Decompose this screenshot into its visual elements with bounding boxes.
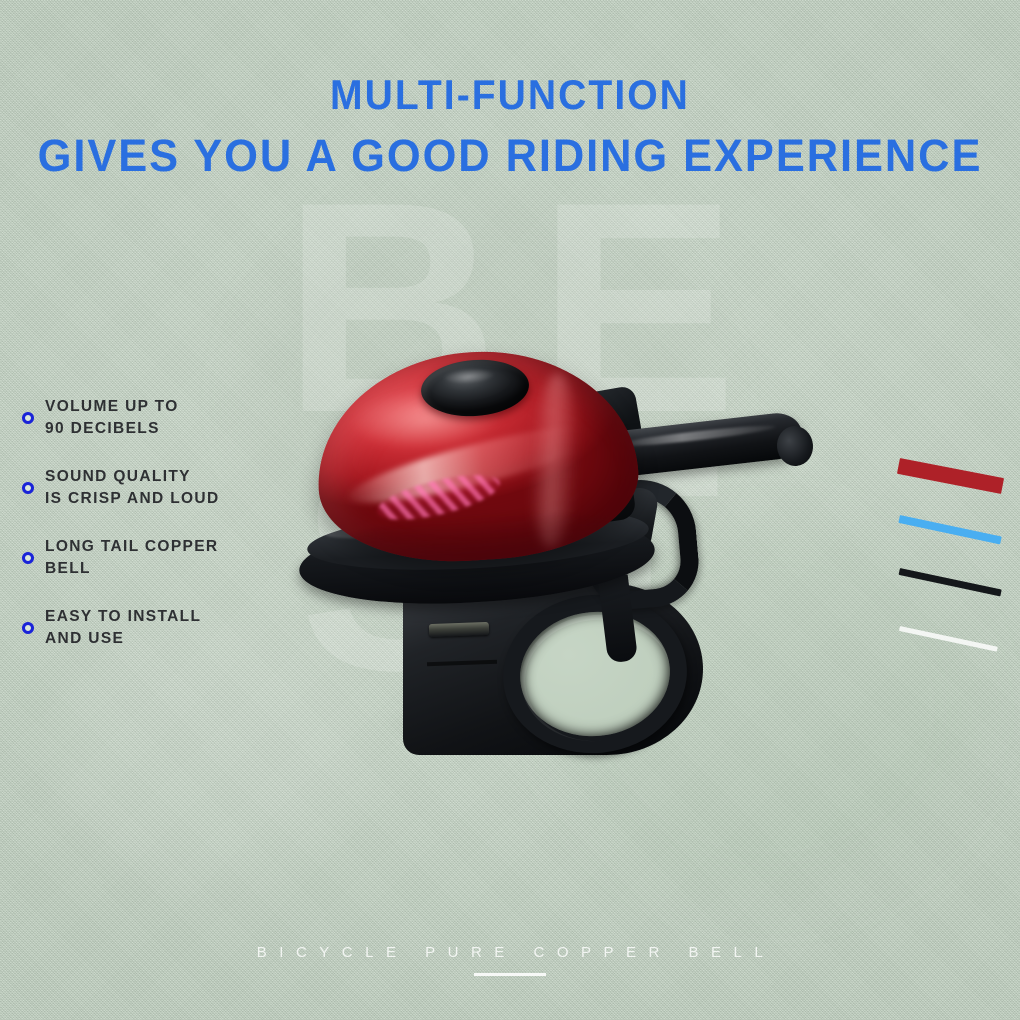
feature-line-2: BELL (45, 558, 218, 580)
headline-line-2: GIVES YOU A GOOD RIDING EXPERIENCE (18, 133, 1002, 178)
feature-line-1: SOUND QUALITY (45, 466, 220, 488)
headline: MULTI-FUNCTION GIVES YOU A GOOD RIDING E… (0, 74, 1020, 178)
caption-underline (474, 973, 546, 976)
bullet-ring-icon (22, 552, 34, 564)
bullet-ring-icon (22, 482, 34, 494)
feature-item-volume: VOLUME UP TO 90 DECIBELS (22, 396, 322, 440)
product-image-bicycle-bell (285, 330, 785, 790)
feature-text: LONG TAIL COPPER BELL (45, 536, 218, 580)
feature-line-2: AND USE (45, 628, 201, 650)
clamp-screw (429, 622, 489, 637)
feature-line-1: VOLUME UP TO (45, 396, 179, 418)
feature-line-2: IS CRISP AND LOUD (45, 488, 220, 510)
feature-item-easy-install: EASY TO INSTALL AND USE (22, 606, 322, 650)
feature-line-1: LONG TAIL COPPER (45, 536, 218, 558)
button-highlight (444, 368, 495, 385)
swatch-stroke (899, 568, 1002, 596)
feature-item-sound-quality: SOUND QUALITY IS CRISP AND LOUD (22, 466, 322, 510)
feature-line-2: 90 DECIBELS (45, 418, 179, 440)
feature-text: EASY TO INSTALL AND USE (45, 606, 201, 650)
feature-text: VOLUME UP TO 90 DECIBELS (45, 396, 179, 440)
color-swatch-black (900, 568, 1002, 590)
bottom-caption: BICYCLE PURE COPPER BELL (0, 944, 1020, 976)
bullet-ring-icon (22, 622, 34, 634)
swatch-stroke (897, 458, 1004, 494)
color-swatch-blue (900, 515, 1002, 537)
swatch-stroke (898, 515, 1001, 544)
color-swatch-white (900, 626, 998, 647)
headline-line-1: MULTI-FUNCTION (36, 74, 985, 116)
feature-text: SOUND QUALITY IS CRISP AND LOUD (45, 466, 220, 510)
feature-line-1: EASY TO INSTALL (45, 606, 201, 628)
feature-list: VOLUME UP TO 90 DECIBELS SOUND QUALITY I… (22, 396, 322, 650)
color-swatch-group (900, 420, 1020, 655)
feature-item-copper-bell: LONG TAIL COPPER BELL (22, 536, 322, 580)
bullet-ring-icon (22, 412, 34, 424)
caption-text: BICYCLE PURE COPPER BELL (0, 944, 1020, 961)
color-swatch-red (900, 458, 1004, 478)
swatch-stroke (899, 626, 998, 652)
